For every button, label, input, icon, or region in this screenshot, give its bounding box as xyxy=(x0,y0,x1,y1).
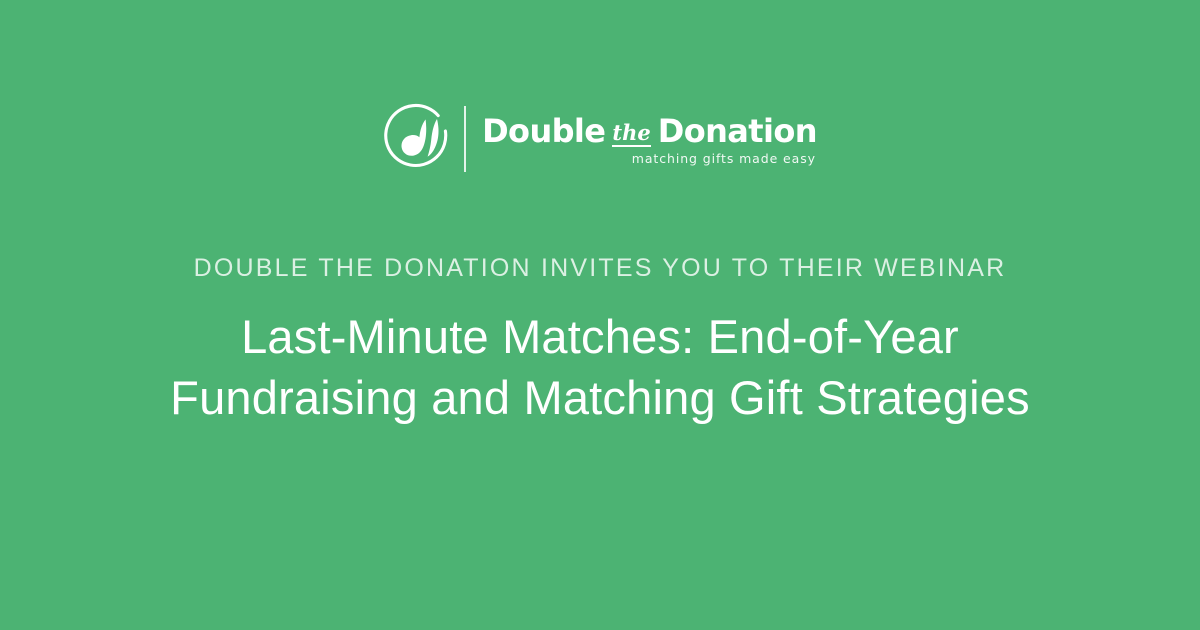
logo-divider xyxy=(464,106,466,172)
wordmark-donation: Donation xyxy=(658,114,817,148)
brand-logo-lockup: Double the Donation matching gifts made … xyxy=(0,100,1200,178)
page-title: Last-Minute Matches: End-of-Year Fundrai… xyxy=(100,306,1100,428)
banner-content: DOUBLE THE DONATION INVITES YOU TO THEIR… xyxy=(100,252,1100,428)
brand-tagline: matching gifts made easy xyxy=(482,152,817,166)
wordmark-double: Double xyxy=(482,114,605,148)
wordmark-text: Double the Donation xyxy=(482,114,817,149)
eyebrow-text: DOUBLE THE DONATION INVITES YOU TO THEIR… xyxy=(100,252,1100,284)
webinar-promo-banner: Double the Donation matching gifts made … xyxy=(0,0,1200,630)
double-the-donation-flame-circle-logo-icon xyxy=(383,103,455,175)
brand-wordmark: Double the Donation matching gifts made … xyxy=(482,112,817,166)
wordmark-the: the xyxy=(612,122,650,147)
